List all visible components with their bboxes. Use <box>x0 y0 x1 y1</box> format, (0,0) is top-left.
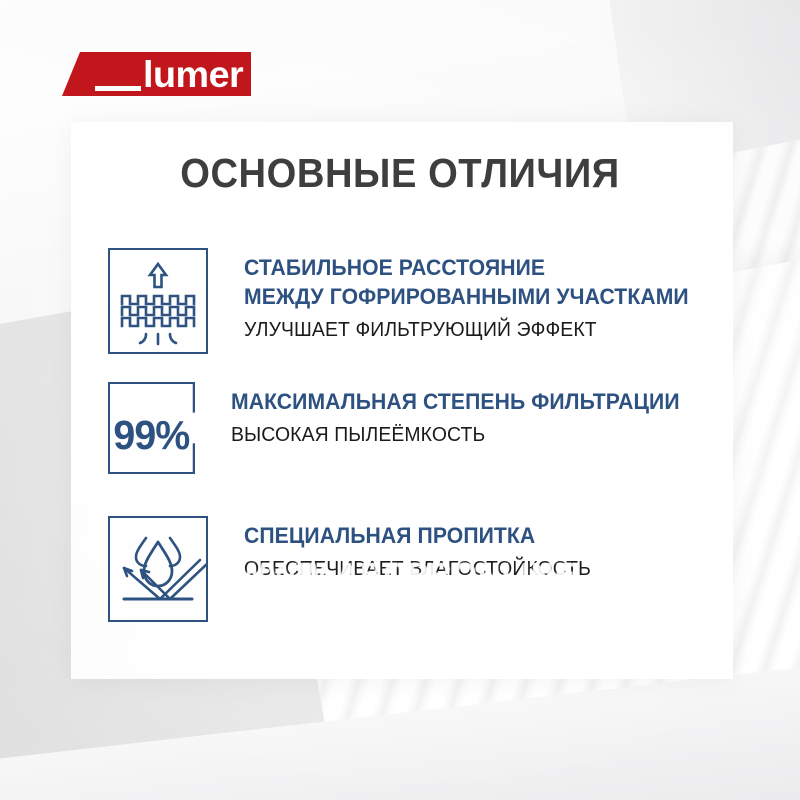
feature-subtitle: ВЫСОКАЯ ПЫЛЕЁМКОСТЬ <box>231 422 694 448</box>
brand-logo-underline <box>95 86 141 91</box>
feature-subtitle: ОБЕСПЕЧИВАЕТ ВЛАГОСТОЙКОСТЬ <box>244 556 591 582</box>
feature-item-special-impregnation: СПЕЦИАЛЬНАЯ ПРОПИТКА ОБЕСПЕЧИВАЕТ ВЛАГОС… <box>108 516 708 628</box>
feature-heading-line1: СПЕЦИАЛЬНАЯ ПРОПИТКА <box>244 522 580 551</box>
page-title: ОСНОВНЫЕ ОТЛИЧИЯ <box>28 150 772 197</box>
infographic-canvas: lumer ОСНОВНЫЕ ОТЛИЧИЯ <box>0 0 800 800</box>
feature-heading-line1: СТАБИЛЬНОЕ РАССТОЯНИЕ <box>244 254 689 283</box>
feature-subtitle: УЛУЧШАЕТ ФИЛЬТРУЮЩИЙ ЭФФЕКТ <box>244 317 703 343</box>
feature-text: СПЕЦИАЛЬНАЯ ПРОПИТКА ОБЕСПЕЧИВАЕТ ВЛАГОС… <box>208 516 602 582</box>
brand-logo: lumer <box>62 52 251 96</box>
feature-text: СТАБИЛЬНОЕ РАССТОЯНИЕ МЕЖДУ ГОФРИРОВАННЫ… <box>208 248 717 343</box>
brand-logo-text: lumer <box>143 56 243 93</box>
pleated-filter-airflow-glyph <box>108 248 208 354</box>
feature-heading-line2: МЕЖДУ ГОФРИРОВАННЫМИ УЧАСТКАМИ <box>244 283 689 312</box>
percent-value: 99% <box>110 382 193 488</box>
feature-list: СТАБИЛЬНОЕ РАССТОЯНИЕ МЕЖДУ ГОФРИРОВАННЫ… <box>108 248 708 650</box>
feature-item-filtration-degree: 99% МАКСИМАЛЬНАЯ СТЕПЕНЬ ФИЛЬТРАЦИИ ВЫСО… <box>108 382 708 494</box>
pleated-filter-airflow-icon <box>108 248 208 354</box>
feature-item-stable-distance: СТАБИЛЬНОЕ РАССТОЯНИЕ МЕЖДУ ГОФРИРОВАННЫ… <box>108 248 708 360</box>
water-repellent-droplet-icon <box>108 516 208 622</box>
feature-heading-line1: МАКСИМАЛЬНАЯ СТЕПЕНЬ ФИЛЬТРАЦИИ <box>231 388 680 417</box>
water-repellent-droplet-glyph <box>108 516 208 622</box>
percent-badge: 99% <box>108 382 195 488</box>
feature-text: МАКСИМАЛЬНАЯ СТЕПЕНЬ ФИЛЬТРАЦИИ ВЫСОКАЯ … <box>195 382 708 448</box>
